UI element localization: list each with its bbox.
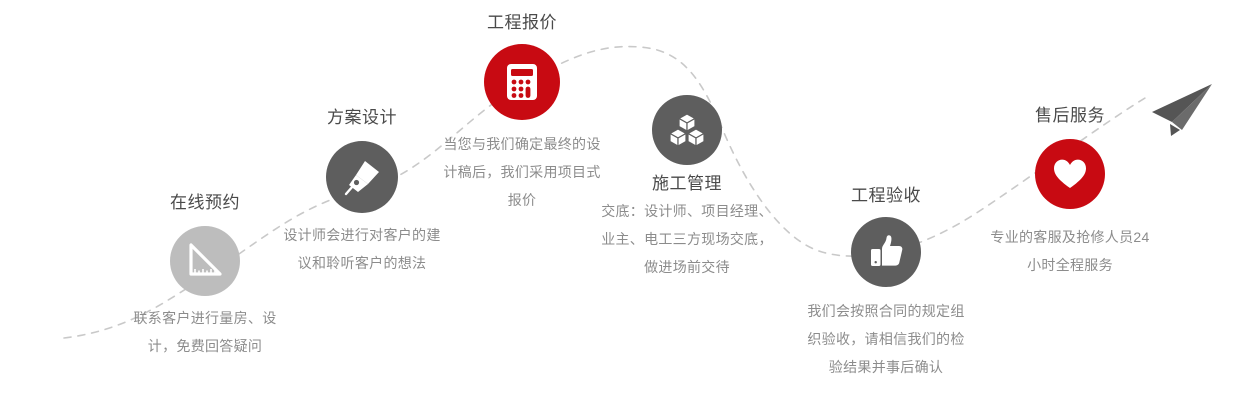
step-title: 工程验收 [851,183,921,209]
step-icon-circle [484,44,560,120]
step-project-quotation[interactable]: 工程报价 当您与我们确定最终的设计稿后，我们采用项目式报价 [437,10,607,214]
step-icon-circle [326,141,398,213]
step-scheme-design[interactable]: 方案设计 设计师会进行对客户的建议和聆听客户的想法 [277,105,447,277]
step-title: 施工管理 [652,171,722,197]
paper-plane-icon [1152,84,1212,136]
calculator-icon [500,60,544,104]
step-title: 售后服务 [1035,103,1105,129]
cubes-icon [666,109,708,151]
step-project-acceptance[interactable]: 工程验收 我们会按照合同的规定组织验收，请相信我们的检验结果并事后确认 [801,183,971,381]
step-icon-circle [652,95,722,165]
step-title: 在线预约 [170,190,240,216]
step-after-sales-service[interactable]: 售后服务 专业的客服及抢修人员24小时全程服务 [985,103,1155,279]
step-description: 设计师会进行对客户的建议和聆听客户的想法 [277,221,447,277]
process-flow-diagram: 在线预约 联系客户进行量房、设计，免费回答疑问 方案设计 [0,0,1245,402]
step-description: 当您与我们确定最终的设计稿后，我们采用项目式报价 [437,130,607,214]
step-construction-management[interactable]: 施工管理 交底：设计师、项目经理、业主、电工三方现场交底，做进场前交待 [602,95,772,281]
thumbs-up-icon [865,231,907,273]
ruler-triangle-icon [184,240,226,282]
step-title: 方案设计 [327,105,397,131]
step-description: 交底：设计师、项目经理、业主、电工三方现场交底，做进场前交待 [599,197,775,281]
heart-icon [1050,154,1090,194]
step-online-booking[interactable]: 在线预约 联系客户进行量房、设计，免费回答疑问 [120,190,290,360]
step-icon-circle [851,217,921,287]
step-description: 我们会按照合同的规定组织验收，请相信我们的检验结果并事后确认 [801,297,971,381]
step-icon-circle [1035,139,1105,209]
step-description: 专业的客服及抢修人员24小时全程服务 [985,223,1155,279]
fountain-pen-icon [340,155,384,199]
step-title: 工程报价 [487,10,557,36]
step-icon-circle [170,226,240,296]
step-description: 联系客户进行量房、设计，免费回答疑问 [120,304,290,360]
